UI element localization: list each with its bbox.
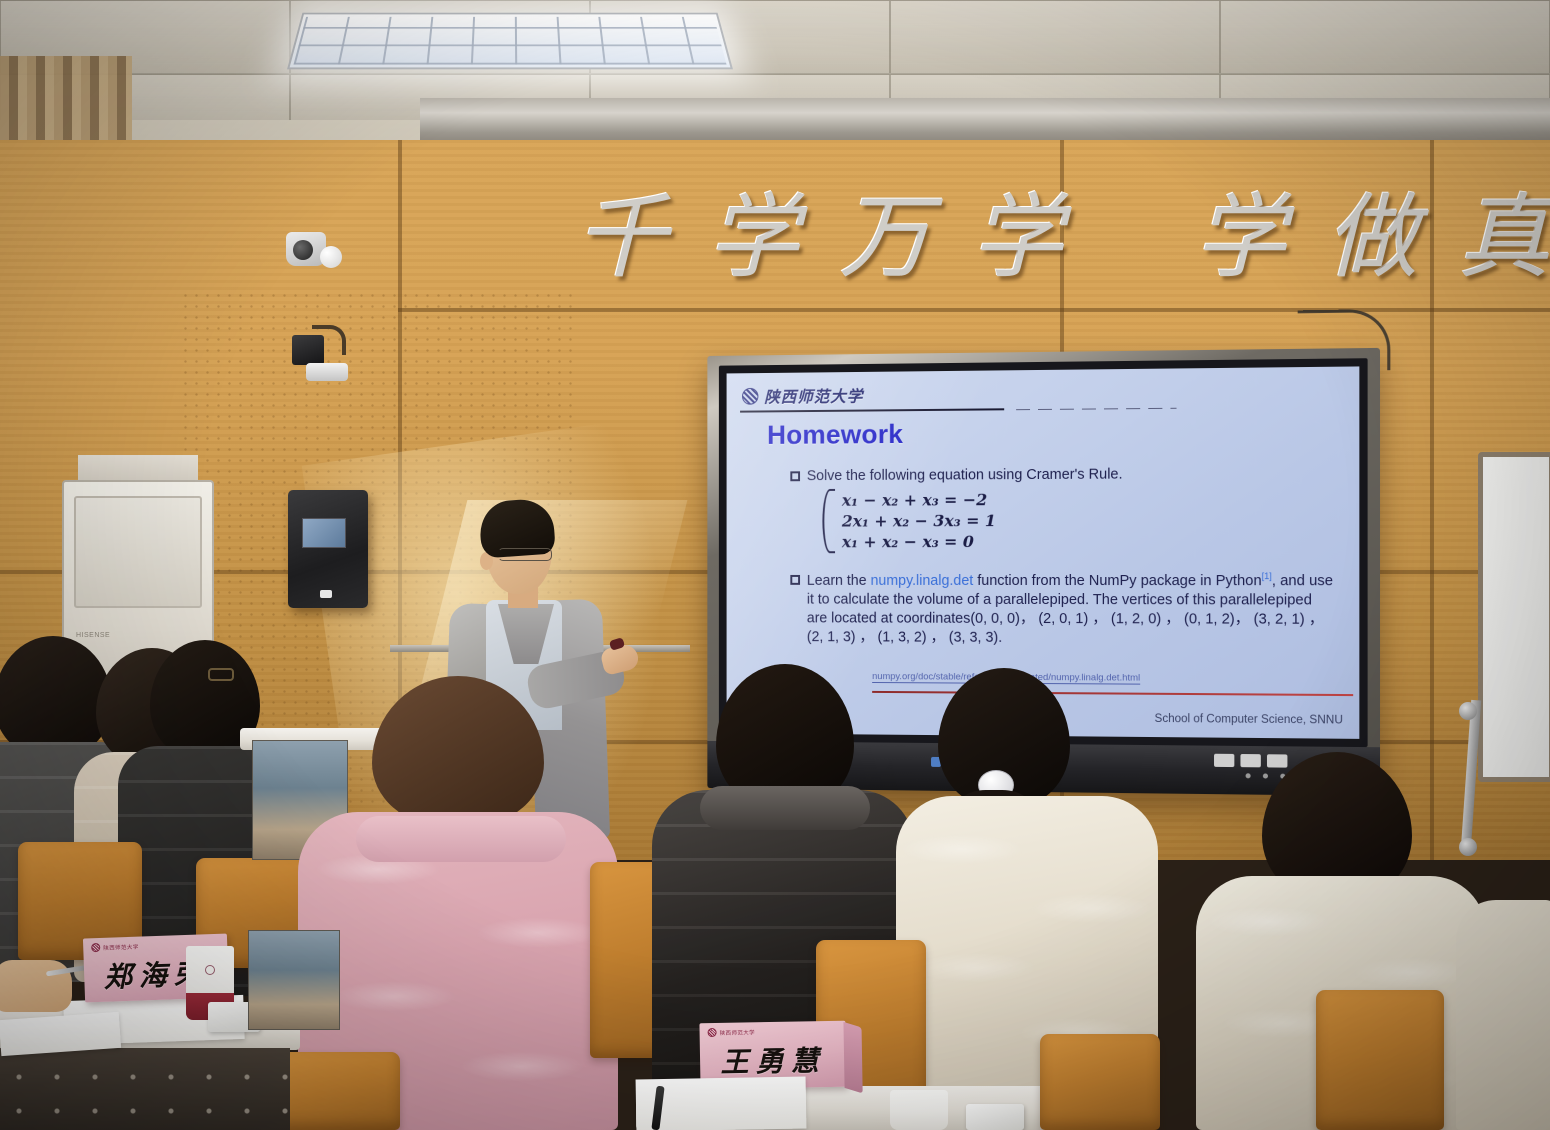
bullet-text: Learn the numpy.linalg.det function from… bbox=[807, 571, 1335, 650]
snnu-seal-icon bbox=[91, 943, 100, 952]
ceiling-tile bbox=[890, 0, 1220, 74]
bullet-item: Solve the following equation using Crame… bbox=[790, 464, 1334, 553]
bullet-item: Learn the numpy.linalg.det function from… bbox=[790, 571, 1334, 650]
classroom-photo-scene: 千 学 万 学 学 做 真 HISENSE 陕西师范大学 bbox=[0, 0, 1550, 1130]
university-name: 陕西师范大学 bbox=[764, 383, 863, 408]
glasses-icon bbox=[208, 668, 234, 681]
ceiling-tile bbox=[1220, 0, 1550, 74]
display-button[interactable] bbox=[1214, 754, 1234, 767]
ceiling-led-panel-light bbox=[287, 13, 733, 70]
calligraphy-char: 做 bbox=[1326, 192, 1418, 284]
bullet-lead-text: Learn the bbox=[807, 573, 871, 589]
bullet-text: Solve the following equation using Crame… bbox=[807, 466, 1123, 487]
equation-line: x₁ − x₂ + x₃ = −2 bbox=[842, 490, 996, 509]
chair[interactable] bbox=[1316, 990, 1444, 1130]
display-button[interactable] bbox=[1240, 754, 1260, 767]
calligraphy-char: 学 bbox=[707, 192, 799, 284]
nameplate-logo-row: 陕西师范大学 bbox=[91, 942, 139, 953]
puffer-hood-collar bbox=[356, 816, 566, 862]
whiteboard-knob[interactable] bbox=[1459, 702, 1477, 720]
slide-footer-rule bbox=[872, 691, 1353, 696]
small-box bbox=[966, 1104, 1024, 1130]
mobile-whiteboard[interactable] bbox=[1478, 452, 1550, 782]
calligraphy-char: 千 bbox=[575, 192, 667, 284]
numpy-linalg-det-link[interactable]: numpy.linalg.det bbox=[870, 573, 973, 589]
equation-line: 2x₁ + x₂ − 3x₃ = 1 bbox=[842, 511, 996, 530]
ac-vent-panel bbox=[74, 496, 202, 608]
equation-system: x₁ − x₂ + x₃ = −2 2x₁ + x₂ − 3x₃ = 1 x₁ … bbox=[822, 488, 1122, 554]
audience-body bbox=[1456, 900, 1550, 1130]
slide-footer-text: School of Computer Science, SNNU bbox=[1155, 713, 1343, 727]
wall-mounted-speaker bbox=[288, 490, 368, 608]
nameplate-university: 陕西师范大学 bbox=[103, 942, 139, 951]
display-button[interactable] bbox=[1267, 754, 1287, 767]
display-control-buttons[interactable] bbox=[1214, 754, 1287, 768]
speaker-display-icon bbox=[302, 518, 346, 548]
paper-cup bbox=[890, 1090, 948, 1130]
wall-calligraphy: 千 学 万 学 学 做 真 bbox=[575, 168, 1550, 308]
chair[interactable] bbox=[1040, 1034, 1160, 1130]
glasses-icon bbox=[498, 548, 552, 561]
hood-collar bbox=[700, 786, 870, 830]
nameplate-side-fold bbox=[843, 1022, 862, 1094]
desk-poster bbox=[248, 930, 340, 1030]
speaker-indicator-icon bbox=[320, 590, 332, 598]
chair[interactable] bbox=[276, 1052, 400, 1130]
wall-sensor-icon bbox=[292, 325, 350, 385]
bullet-square-icon bbox=[790, 575, 800, 585]
cup-logo-icon bbox=[205, 965, 215, 975]
calligraphy-char: 真 bbox=[1458, 192, 1550, 284]
header-rule-dashed bbox=[1016, 408, 1176, 410]
snnu-seal-icon bbox=[742, 387, 758, 404]
bullet-square-icon bbox=[790, 471, 800, 481]
nameplate-name: 王勇慧 bbox=[700, 1039, 847, 1082]
calligraphy-char: 学 bbox=[971, 192, 1063, 284]
reference-superscript: [1] bbox=[1262, 571, 1272, 581]
nameplate-logo-row: 陕西师范大学 bbox=[708, 1027, 756, 1037]
slide-header: 陕西师范大学 bbox=[742, 374, 1345, 412]
calligraphy-char: 万 bbox=[839, 192, 931, 284]
snnu-seal-icon bbox=[708, 1028, 717, 1037]
desk-skirt bbox=[0, 1048, 290, 1130]
left-brace-icon bbox=[822, 489, 835, 553]
wall-camera-icon bbox=[286, 226, 344, 278]
equation-line: x₁ + x₂ − x₃ = 0 bbox=[842, 532, 996, 551]
bullet-after-code-text: function from the NumPy package in Pytho… bbox=[973, 573, 1261, 589]
nameplate-university: 陕西师范大学 bbox=[720, 1028, 756, 1037]
slide-bullets: Solve the following equation using Crame… bbox=[790, 464, 1334, 653]
ac-brand-label: HISENSE bbox=[76, 632, 110, 639]
display-indicator-dots bbox=[1246, 773, 1286, 779]
attendee-hand bbox=[0, 960, 72, 1012]
calligraphy-char: 学 bbox=[1194, 192, 1286, 284]
slide-title: Homework bbox=[767, 419, 903, 451]
whiteboard-knob[interactable] bbox=[1459, 838, 1477, 856]
